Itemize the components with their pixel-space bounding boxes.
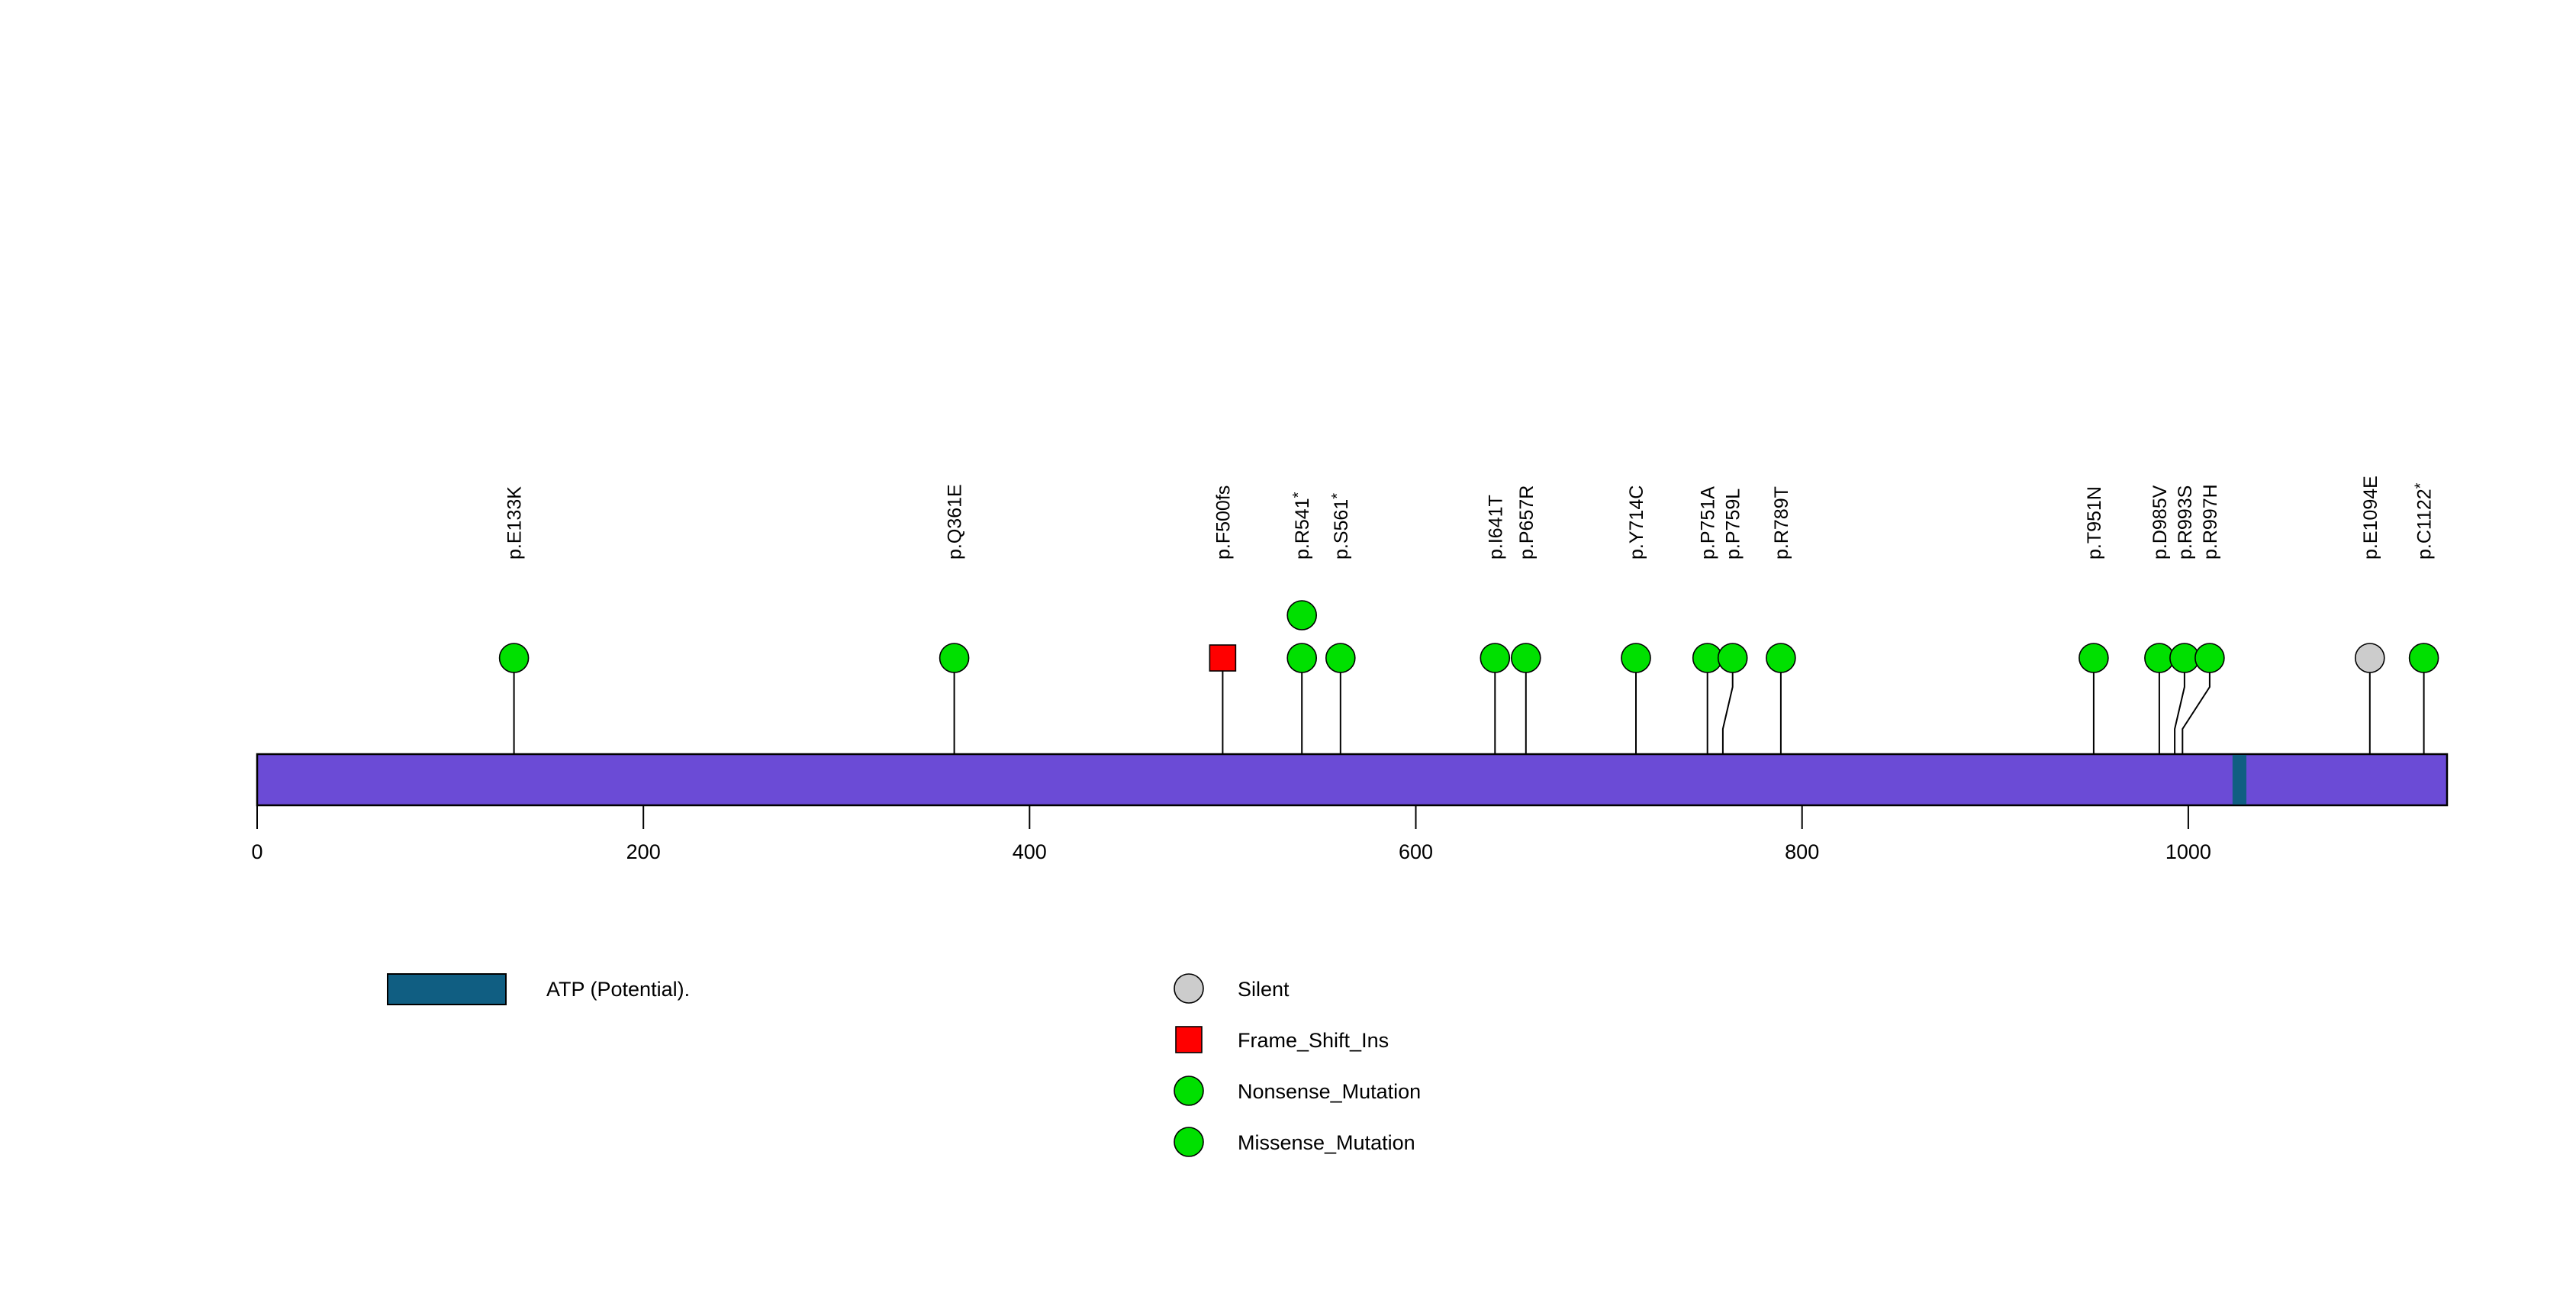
mutation-label: p.S561* (1329, 493, 1352, 560)
mutation-marker[interactable]: p.I641T (Missense_Mutation) (1480, 643, 1509, 672)
mutation-marker[interactable]: p.T951N (Missense_Mutation) (2079, 643, 2108, 672)
protein-backbone (257, 754, 2447, 805)
domain-legend-swatch (388, 974, 506, 1005)
protein-domain[interactable] (2233, 755, 2246, 804)
protein-backbone-layer (257, 754, 2447, 805)
mutation-legend-swatch (1174, 974, 1203, 1003)
mutation-label: p.P751A (1698, 486, 1719, 560)
mutation-label: p.P759L (1723, 489, 1744, 560)
mutation-label: p.E133K (504, 486, 526, 560)
mutation-label: p.P657R (1516, 485, 1538, 560)
lollipop-plot-canvas: 02004006008001000 p.E133K (Missense_Muta… (0, 0, 2576, 1290)
mutation-legend-label: Silent (1238, 978, 1290, 1001)
axis-tick-label: 800 (1785, 840, 1819, 863)
mutation-marker[interactable]: p.E133K (Missense_Mutation) (500, 643, 529, 672)
mutation-label: p.Q361E (945, 484, 966, 560)
mutation-label: p.T951N (2084, 486, 2105, 560)
mutation-label: p.D985V (2149, 485, 2171, 560)
mutation-label: p.R541* (1290, 492, 1313, 560)
mutation-label: p.F500fs (1212, 485, 1234, 560)
mutation-marker[interactable]: p.R541* (Nonsense_Mutation) (1287, 643, 1316, 672)
mutation-label: p.R789T (1771, 486, 1792, 560)
mutation-marker[interactable]: p.E1094E (Silent) (2355, 643, 2384, 672)
mutation-label: p.R997H (2200, 484, 2221, 560)
mutation-marker[interactable]: p.Q361E (Missense_Mutation) (940, 643, 969, 672)
axis-tick-label: 600 (1399, 840, 1433, 863)
mutation-legend-label: Missense_Mutation (1238, 1131, 1415, 1154)
mutation-legend-label: Frame_Shift_Ins (1238, 1029, 1389, 1052)
axis-tick-label: 200 (626, 840, 661, 863)
mutation-marker[interactable]: p.S561* (Nonsense_Mutation) (1326, 643, 1355, 672)
mutation-marker[interactable]: p.P759L (Missense_Mutation) (1718, 643, 1747, 672)
mutation-legend-swatch (1174, 1127, 1203, 1156)
domain-legend-label: ATP (Potential). (546, 978, 690, 1001)
mutation-marker[interactable]: p.C1122* (Nonsense_Mutation) (2410, 643, 2439, 672)
domain-layer (2233, 755, 2246, 804)
mutation-marker[interactable]: p.P657R (Missense_Mutation) (1512, 643, 1541, 672)
mutation-legend-label: Nonsense_Mutation (1238, 1080, 1421, 1103)
mutation-label: p.I641T (1485, 495, 1506, 560)
axis-tick-label: 400 (1013, 840, 1047, 863)
axis-tick-label: 0 (251, 840, 262, 863)
mutation-legend-swatch (1174, 1076, 1203, 1105)
mutation-label: p.C1122* (2413, 482, 2436, 560)
mutation-label: p.E1094E (2360, 476, 2381, 560)
mutation-label: p.Y714C (1626, 485, 1647, 560)
mutation-marker[interactable]: p.R997H (Missense_Mutation) (2195, 643, 2224, 672)
mutation-label: p.R993S (2175, 485, 2196, 560)
mutation-marker[interactable]: p.F500fs (Frame_Shift_Ins) (1209, 645, 1235, 671)
mutation-legend-swatch (1176, 1027, 1202, 1053)
mutation-marker[interactable]: p.R789T (Missense_Mutation) (1766, 643, 1795, 672)
mutation-marker[interactable]: p.Y714C (Missense_Mutation) (1621, 643, 1650, 672)
lollipop-plot-svg: 02004006008001000 p.E133K (Missense_Muta… (0, 0, 2576, 1290)
axis-tick-label: 1000 (2165, 840, 2211, 863)
mutation-marker[interactable]: p.R541* (Nonsense_Mutation) (1287, 601, 1316, 630)
